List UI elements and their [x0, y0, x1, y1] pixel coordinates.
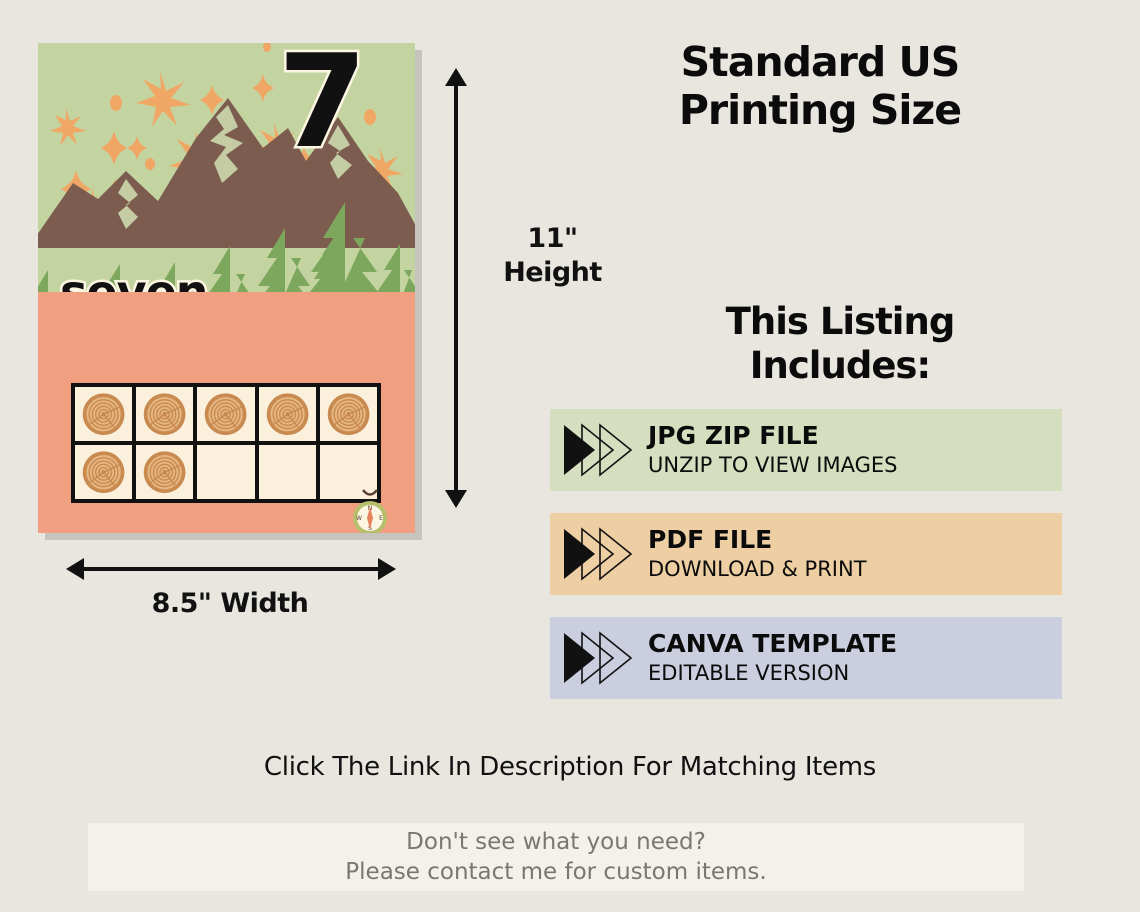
custom-request-line-1: Don't see what you need?	[406, 827, 706, 857]
wood-slice-icon	[140, 449, 189, 495]
file-banner-pdf[interactable]: PDF FILE DOWNLOAD & PRINT	[550, 513, 1062, 595]
wood-slice-icon	[324, 391, 373, 437]
file-title: JPG ZIP FILE	[648, 422, 897, 451]
flashcard-word: seven	[60, 265, 208, 292]
width-dimension-label: 8.5" Width	[40, 588, 420, 619]
flashcard-preview: 7 seven	[38, 43, 415, 533]
file-banner-jpg-zip[interactable]: JPG ZIP FILE UNZIP TO VIEW IMAGES	[550, 409, 1062, 491]
flashcard-top-scene: 7 seven	[38, 43, 415, 292]
wood-slice-icon	[140, 391, 189, 437]
file-title: PDF FILE	[648, 526, 867, 555]
double-chevron-right-icon	[562, 421, 638, 479]
height-word: Height	[503, 257, 602, 288]
double-chevron-right-icon	[562, 629, 638, 687]
listing-includes-heading: This Listing Includes:	[610, 300, 1070, 389]
file-subtitle: DOWNLOAD & PRINT	[648, 557, 867, 582]
svg-text:W: W	[356, 515, 362, 522]
ten-frame-grid	[71, 383, 381, 503]
file-title: CANVA TEMPLATE	[648, 630, 897, 659]
ten-frame-cell	[136, 387, 193, 441]
flashcard-numeral: 7	[278, 43, 367, 174]
height-dimension-arrow-icon	[443, 68, 469, 508]
ten-frame-cell	[75, 445, 132, 499]
compass-charm-icon: N E S W	[349, 488, 391, 533]
wood-slice-icon	[79, 391, 128, 437]
wood-slice-icon	[263, 391, 312, 437]
height-dimension-label: 11" Height	[470, 222, 635, 290]
custom-request-box: Don't see what you need? Please contact …	[88, 823, 1024, 891]
file-banner-text: PDF FILE DOWNLOAD & PRINT	[648, 526, 867, 582]
included-files-list: JPG ZIP FILE UNZIP TO VIEW IMAGES PDF FI…	[550, 409, 1062, 699]
standard-size-line-2: Printing Size	[679, 86, 961, 134]
height-value: 11"	[527, 223, 577, 254]
standard-size-heading: Standard US Printing Size	[570, 38, 1070, 135]
ten-frame-cell	[259, 387, 316, 441]
listing-includes-line-2: Includes:	[750, 344, 930, 387]
ten-frame-cell	[259, 445, 316, 499]
width-dimension-arrow-icon	[66, 556, 396, 582]
ten-frame-cell	[136, 445, 193, 499]
flashcard-bottom-panel: N E S W	[38, 292, 415, 533]
file-subtitle: UNZIP TO VIEW IMAGES	[648, 453, 897, 478]
file-banner-text: JPG ZIP FILE UNZIP TO VIEW IMAGES	[648, 422, 897, 478]
wood-slice-icon	[201, 391, 250, 437]
svg-text:E: E	[379, 515, 383, 522]
standard-size-line-1: Standard US	[681, 38, 960, 86]
double-chevron-right-icon	[562, 525, 638, 583]
file-banner-text: CANVA TEMPLATE EDITABLE VERSION	[648, 630, 897, 686]
ten-frame-cell	[320, 387, 377, 441]
file-banner-canva[interactable]: CANVA TEMPLATE EDITABLE VERSION	[550, 617, 1062, 699]
ten-frame-cell	[75, 387, 132, 441]
file-subtitle: EDITABLE VERSION	[648, 661, 897, 686]
ten-frame-cell	[197, 387, 254, 441]
ten-frame-cell	[197, 445, 254, 499]
custom-request-line-2: Please contact me for custom items.	[345, 857, 766, 887]
listing-includes-line-1: This Listing	[726, 300, 955, 343]
wood-slice-icon	[79, 449, 128, 495]
matching-items-note: Click The Link In Description For Matchi…	[0, 752, 1140, 782]
